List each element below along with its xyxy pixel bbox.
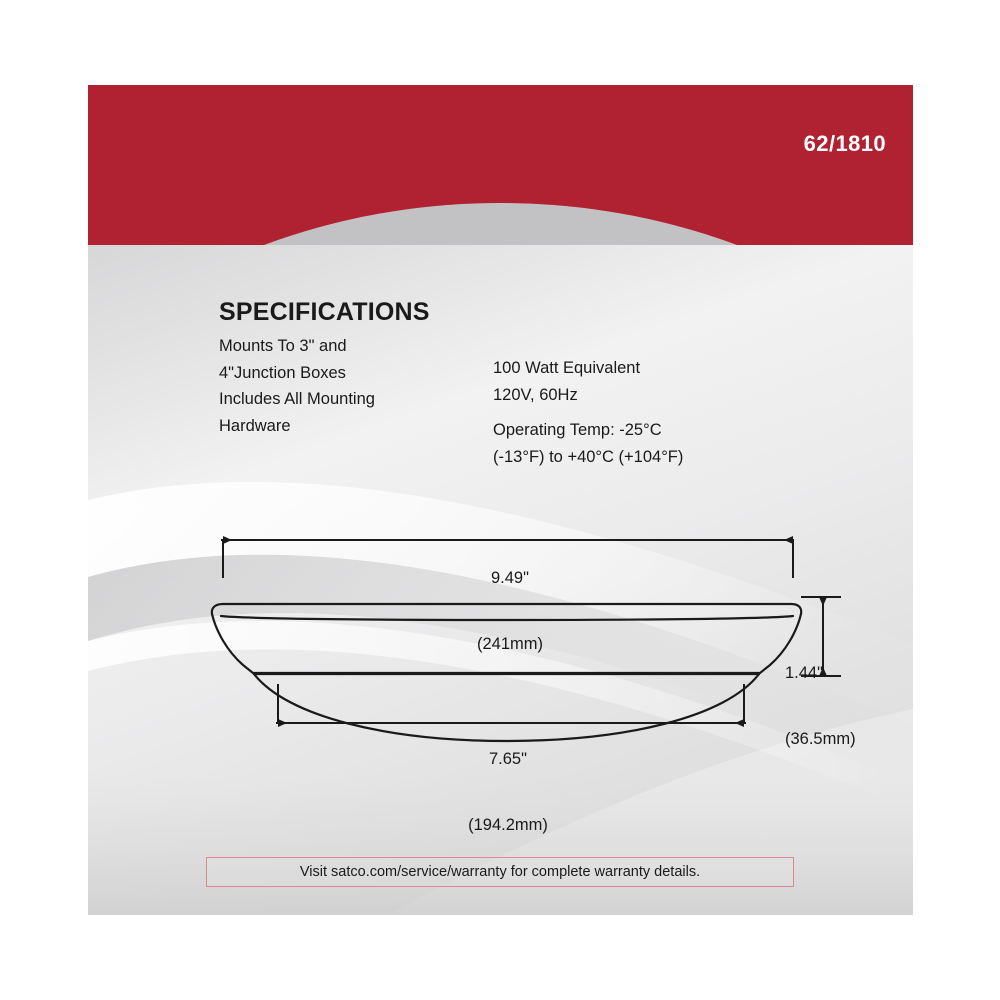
spec-item: Operating Temp: -25°C <box>493 417 823 444</box>
spec-item: Hardware <box>219 413 479 440</box>
specifications-block: SPECIFICATIONS Mounts To 3" and 4"Juncti… <box>219 298 859 333</box>
specifications-right-column: 100 Watt Equivalent 120V, 60Hz Operating… <box>493 355 823 470</box>
warranty-notice: Visit satco.com/service/warranty for com… <box>206 857 794 887</box>
dimension-metric: (36.5mm) <box>785 728 913 750</box>
dimension-metric: (194.2mm) <box>438 814 578 836</box>
spacer <box>493 408 823 417</box>
dimension-inches: 1.44" <box>785 662 913 684</box>
dimension-label-width-top: 9.49" (241mm) <box>445 523 575 699</box>
specifications-heading: SPECIFICATIONS <box>219 298 859 327</box>
banner-arc-shape <box>88 203 913 245</box>
sheet-content-panel: 62/1810 SPECIFICATIONS Mounts To 3" and … <box>88 85 913 915</box>
product-spec-sheet: 62/1810 SPECIFICATIONS Mounts To 3" and … <box>0 0 1000 1000</box>
spec-item: 120V, 60Hz <box>493 382 823 409</box>
spec-item: 4"Junction Boxes <box>219 360 479 387</box>
header-banner <box>88 85 913 245</box>
specifications-left-column: Mounts To 3" and 4"Junction Boxes Includ… <box>219 333 479 439</box>
spec-item: 100 Watt Equivalent <box>493 355 823 382</box>
sku-number: 62/1810 <box>804 131 886 157</box>
dimension-label-height: 1.44" (36.5mm) <box>785 618 913 794</box>
spec-item: Includes All Mounting <box>219 386 479 413</box>
dimension-label-width-bottom: 7.65" (194.2mm) <box>438 704 578 880</box>
dimension-inches: 9.49" <box>445 567 575 589</box>
dimension-inches: 7.65" <box>438 748 578 770</box>
spec-item: Mounts To 3" and <box>219 333 479 360</box>
dimension-metric: (241mm) <box>445 633 575 655</box>
spec-item: (-13°F) to +40°C (+104°F) <box>493 444 823 471</box>
